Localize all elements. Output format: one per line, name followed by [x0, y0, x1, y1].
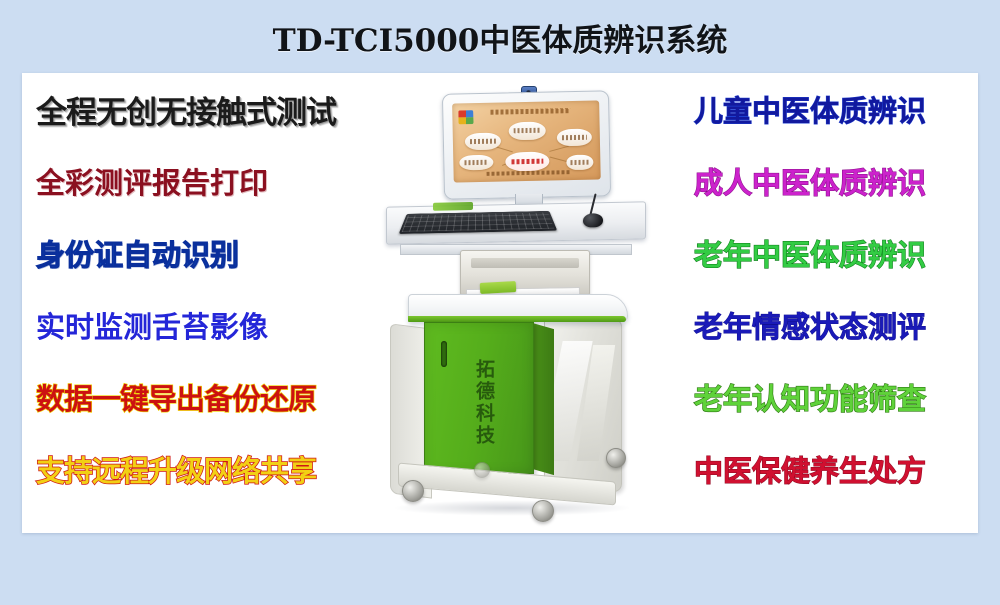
mouse — [583, 213, 603, 227]
screen-bubble — [509, 122, 546, 141]
screen-bubble — [465, 133, 501, 151]
cabinet-side-panel — [532, 323, 554, 475]
feature-item-right-6: 中医保健养生处方 — [642, 433, 978, 505]
monitor-screen — [452, 100, 601, 182]
monitor-bezel — [442, 90, 611, 199]
screen-bubble — [557, 129, 592, 147]
cabinet-handle — [441, 341, 447, 367]
screen-bubble — [566, 155, 593, 171]
monitor-assembly — [443, 86, 608, 198]
poster-stage: TD-TCI5000中医体质辨识系统 全程无创无接触式测试 全彩测评报告打印 身… — [0, 0, 1000, 605]
product-photo: 拓德科技 — [378, 76, 658, 531]
paper-guide-green — [480, 281, 517, 294]
app-logo-icon — [458, 110, 473, 124]
cabinet-brand-text: 拓德科技 — [467, 359, 493, 457]
screen-bubble-center — [505, 152, 549, 172]
feature-item-right-2: 成人中医体质辨识 — [642, 145, 978, 217]
keyboard — [399, 211, 557, 234]
keyboard-accent-strip — [433, 202, 473, 211]
caster-wheel — [474, 462, 490, 478]
screen-bubble — [459, 155, 493, 171]
screen-footer-text — [487, 170, 571, 176]
keyboard-tray — [386, 201, 646, 244]
caster-wheel — [532, 500, 554, 522]
page-title: TD-TCI5000中医体质辨识系统 — [273, 15, 728, 60]
screen-title-text — [490, 108, 570, 115]
screen-connector-line — [549, 146, 569, 152]
feature-item-right-4: 老年情感状态测评 — [642, 289, 978, 361]
caster-wheel — [402, 480, 424, 502]
feature-item-right-3: 老年中医体质辨识 — [642, 217, 978, 289]
feature-item-right-1: 儿童中医体质辨识 — [642, 73, 978, 145]
caster-wheel — [606, 448, 626, 468]
feature-item-right-5: 老年认知功能筛查 — [642, 361, 978, 433]
feature-column-right: 儿童中医体质辨识 成人中医体质辨识 老年中医体质辨识 老年情感状态测评 老年认知… — [636, 73, 978, 533]
page-title-bar: TD-TCI5000中医体质辨识系统 — [0, 14, 1000, 60]
cabinet-door: 拓德科技 — [424, 322, 534, 474]
